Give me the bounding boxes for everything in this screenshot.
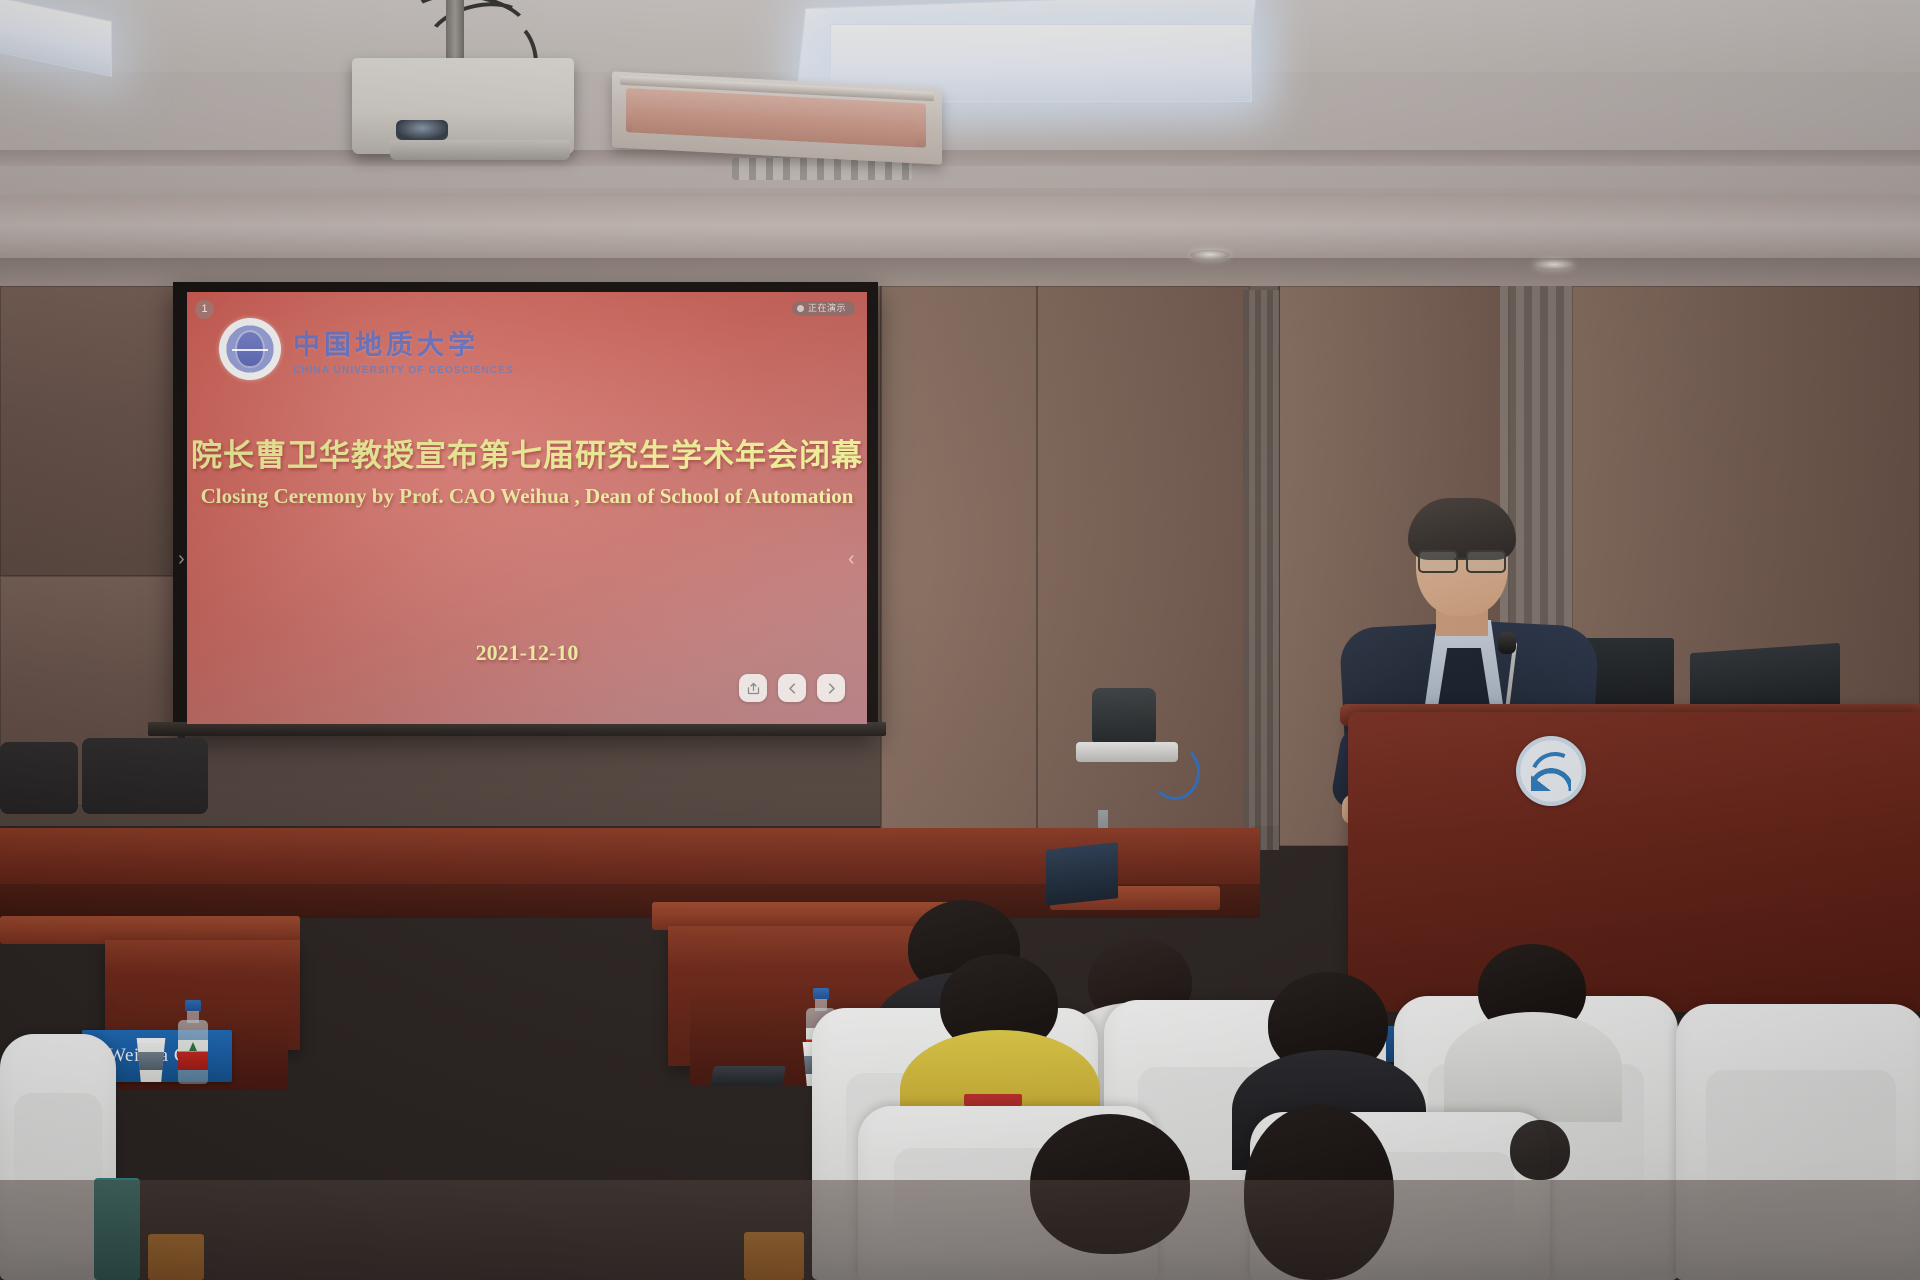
wall-panel	[0, 286, 178, 576]
wall-seam	[1036, 286, 1038, 846]
podium-emblem-icon	[1516, 736, 1586, 806]
camera-icon	[1092, 688, 1156, 746]
screen-right-arrow-icon[interactable]: ‹	[848, 548, 855, 571]
floor	[0, 1180, 1920, 1280]
back-chair	[82, 738, 208, 814]
podium	[1348, 712, 1920, 1012]
phone-on-desk	[710, 1066, 786, 1086]
ceiling-trim-band	[0, 150, 1920, 166]
projector-base-plate	[390, 140, 570, 160]
university-name-en: CHINA UNIVERSITY OF GEOSCIENCES	[293, 365, 514, 376]
conference-room-photo: 1 正在演示 中国地质大学 CHINA UNIVERSITY OF GEOSCI…	[0, 0, 1920, 1280]
wall-seam	[880, 286, 882, 846]
camera-base	[1076, 742, 1178, 762]
back-chair	[0, 742, 78, 814]
lanyard	[964, 1094, 1022, 1106]
slide-title: 院长曹卫华教授宣布第七届研究生学术年会闭幕	[187, 430, 867, 475]
downlight-icon	[1534, 260, 1574, 270]
microphone-icon	[1498, 632, 1516, 654]
laptop	[1046, 842, 1118, 906]
slide-page-number: 1	[195, 300, 214, 319]
audience-shoulders	[1444, 1012, 1622, 1122]
university-logo: 中国地质大学 CHINA UNIVERSITY OF GEOSCIENCES	[219, 318, 514, 380]
projector-lens	[396, 120, 448, 140]
wall-curtain	[1243, 290, 1279, 850]
water-bottle	[178, 1000, 208, 1084]
downlight-icon	[1190, 250, 1230, 260]
screen-left-arrow-icon[interactable]: ›	[178, 548, 185, 571]
audience-head	[1510, 1120, 1570, 1180]
university-name-cn: 中国地质大学	[293, 323, 514, 362]
presentation-slide[interactable]: 1 正在演示 中国地质大学 CHINA UNIVERSITY OF GEOSCI…	[187, 292, 867, 724]
university-seal-icon	[219, 318, 281, 380]
slide-subtitle: Closing Ceremony by Prof. CAO Weihua , D…	[187, 484, 867, 509]
speaker-glasses-icon	[1418, 550, 1506, 570]
chevron-right-icon[interactable]	[817, 674, 845, 702]
chevron-left-icon[interactable]	[778, 674, 806, 702]
status-badge: 正在演示	[792, 301, 855, 316]
projector-mount	[446, 0, 464, 62]
ceiling-soffit	[0, 196, 1920, 262]
slide-date: 2021-12-10	[187, 640, 867, 666]
slide-navigation-controls[interactable]	[739, 674, 845, 702]
projection-screen-roller-bar	[148, 722, 886, 736]
share-icon[interactable]	[739, 674, 767, 702]
